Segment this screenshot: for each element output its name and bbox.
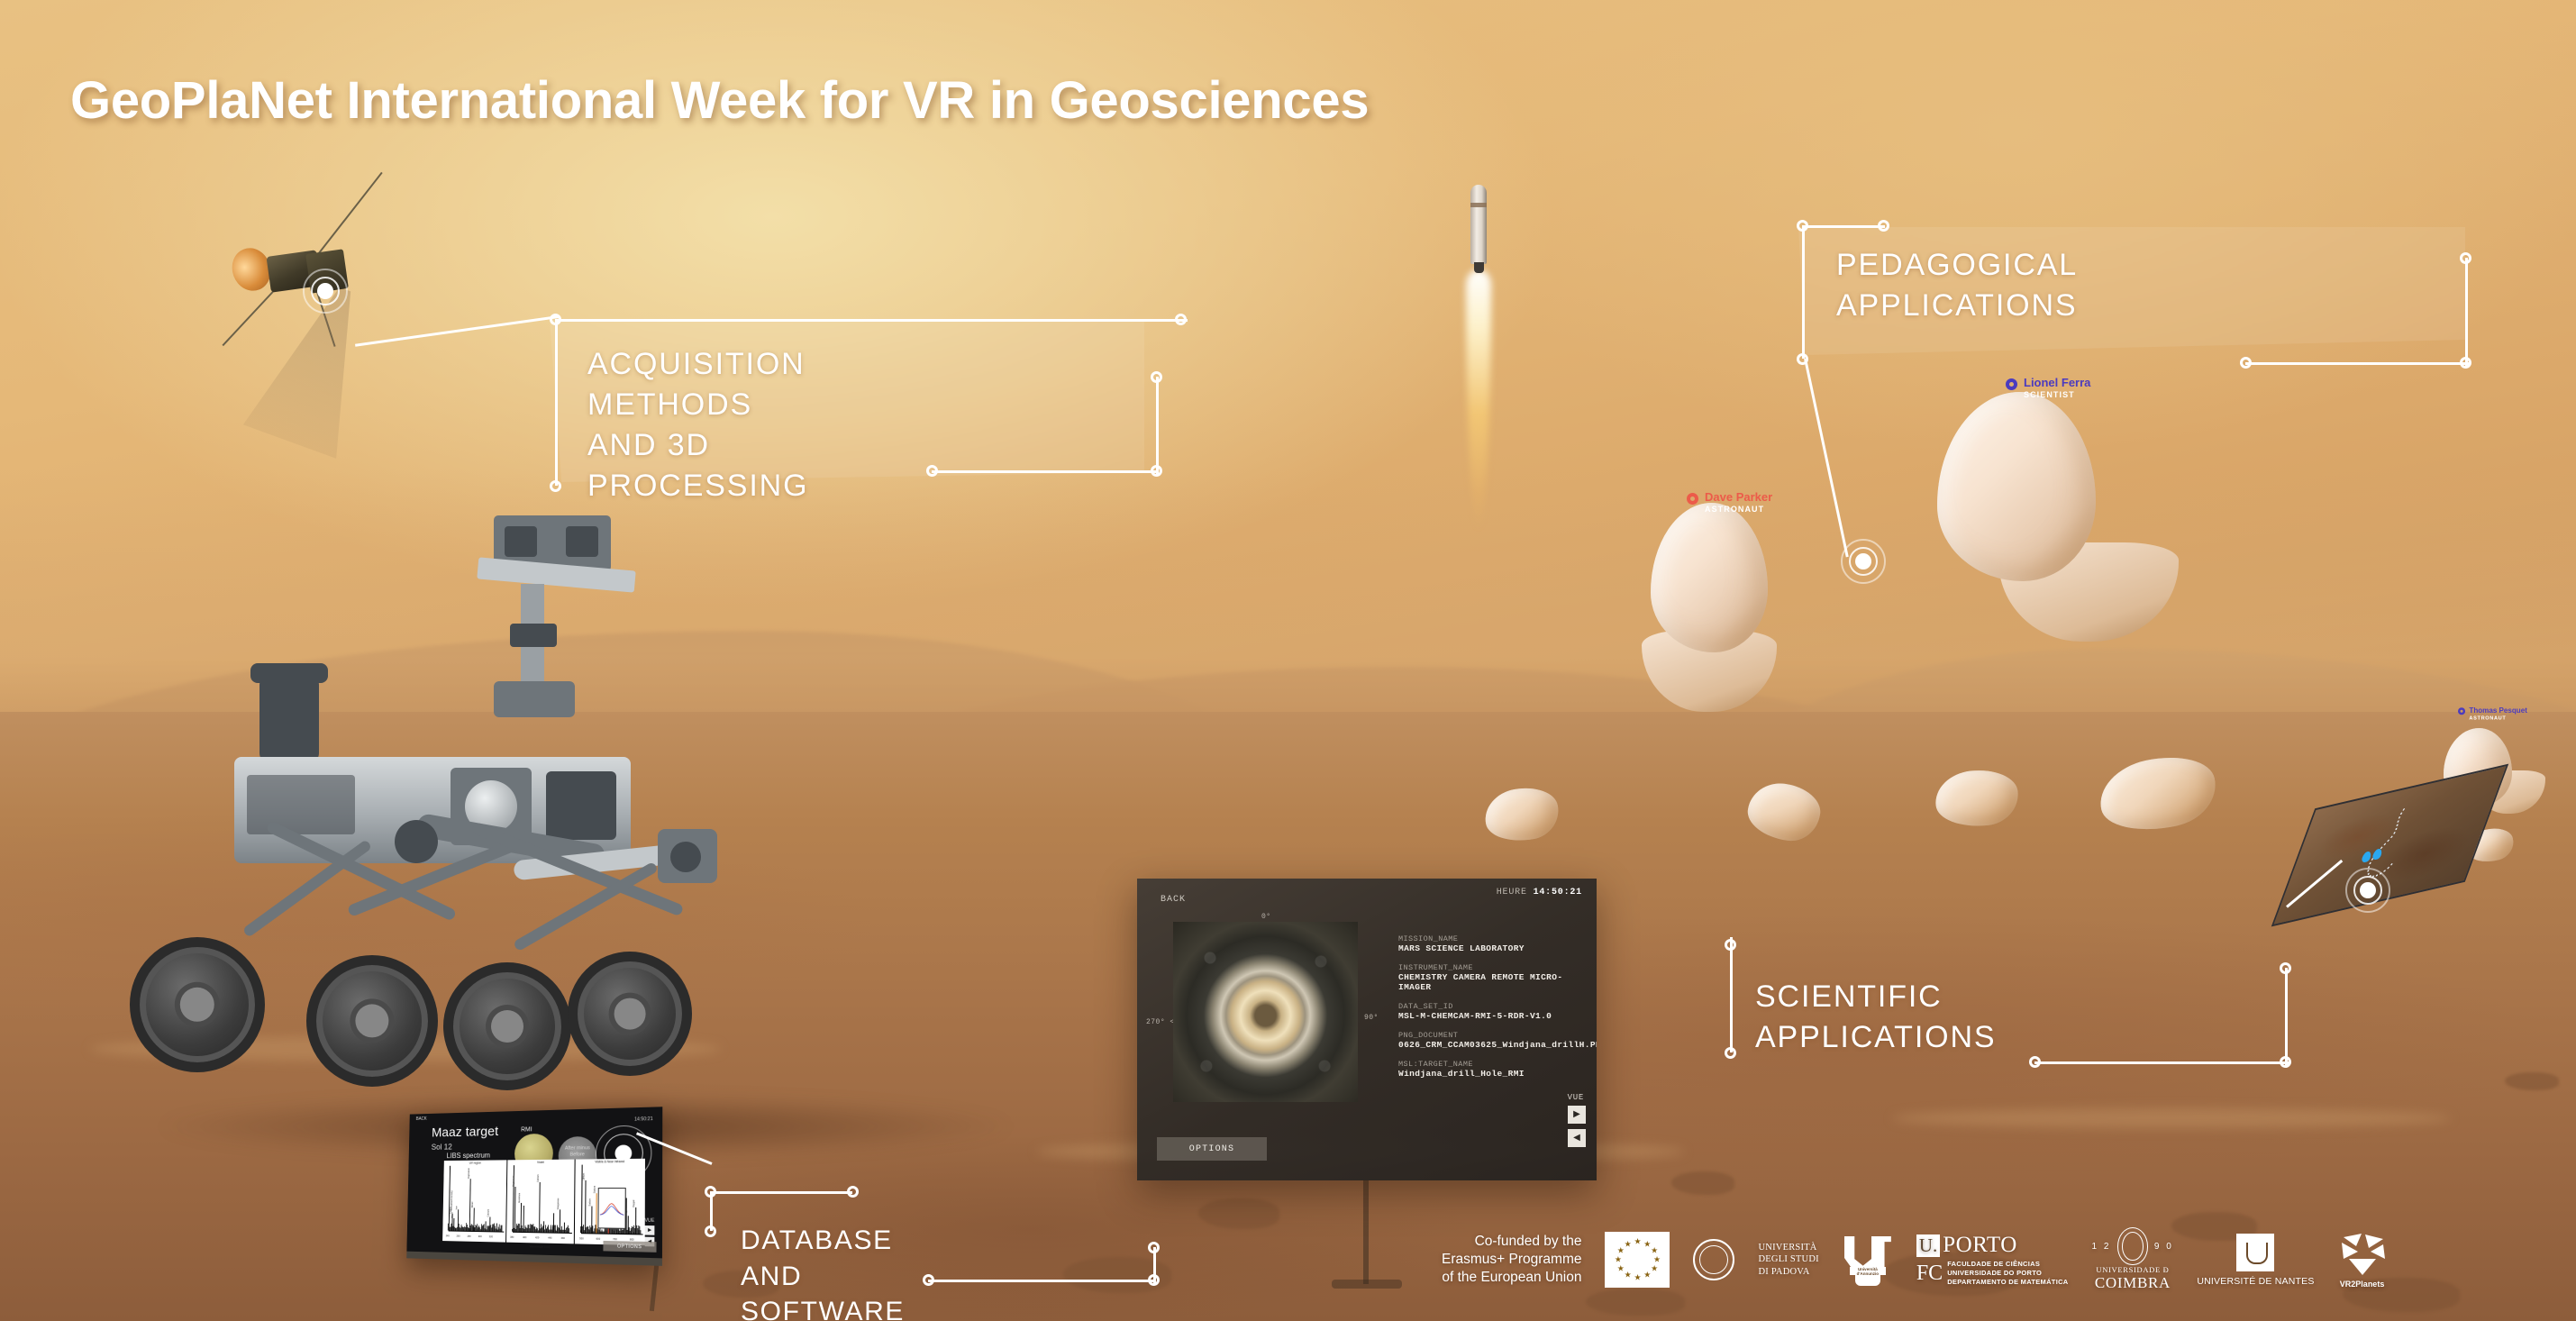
chart-pane-uv: UV region Normalized intensity CarbonSil… [442,1160,508,1242]
callout-line-bottom [928,1280,1155,1282]
callout-nub [2029,1056,2041,1068]
ground-rock [1198,1198,1279,1229]
clock-label: HEURE [1497,888,1527,897]
view-label: VUE [1568,1093,1584,1102]
rover-camera-lens [566,526,598,557]
chart-pane-violet: Violet MagnesiumAluminiumCalciumManganes… [506,1160,575,1244]
peak-label: Magnesium [468,1168,470,1179]
uda-foot [1855,1275,1880,1286]
callout-nub [1148,1274,1160,1286]
x-axis-label: Wavelength (nm) [530,1244,550,1249]
peak-label: Calcium [487,1209,490,1217]
eu-star-icon: ★ [1634,1273,1641,1281]
callout-nub [1725,939,1736,951]
callout-line-left [555,319,558,486]
rover-arm-shoulder [395,820,438,863]
libs-spectrum-panel[interactable]: BACK 14:50:21 Maaz target Sol 12 RMI Aft… [406,1107,662,1266]
peak-label: Silicon [471,1202,474,1208]
rmi-image[interactable] [1173,922,1358,1102]
spectrum-peak [496,1224,497,1232]
nametag-role: ASTRONAUT [1705,505,1772,514]
callout-nub [1725,1047,1736,1059]
rover-rtg [259,676,319,762]
fc-mark: FC [1916,1262,1943,1286]
view-next-button[interactable]: ▶ [1568,1106,1586,1124]
porto-u-mark: U. [1916,1234,1940,1257]
callout-nub [2280,962,2291,974]
peak-label: Manganese [557,1198,560,1210]
meta-key: DATA_SET_ID [1398,1002,1592,1011]
x-tick-label: 300 [478,1235,482,1238]
peak-label: Magnesium [512,1176,514,1187]
metadata-list: MISSION_NAME MARS SCIENCE LABORATORY INS… [1398,934,1592,1089]
nametag-dave-parker: Dave Parker ASTRONAUT [1687,491,1772,514]
callout-label: SCIENTIFIC APPLICATIONS [1755,977,1996,1058]
callout-line-bottom [2034,1061,2289,1064]
mission-data-panel[interactable]: BACK HEURE 14:50:21 0° 270° < 90° MISSIO… [1137,879,1597,1180]
eu-star-icon: ★ [1653,1256,1661,1264]
rover-wheel [568,952,692,1076]
rocket-body [1470,185,1487,264]
eu-star-icon: ★ [1617,1247,1625,1255]
hotspot-scientific[interactable] [2343,865,2393,916]
callout-line-right [2285,968,2288,1065]
uda-sub-label: Università d'Annunzio [1848,1267,1888,1276]
rocket-nozzle [1474,262,1484,273]
callout-line-bottom [932,470,1159,473]
callout-nub [2460,252,2471,264]
nametag-name: Lionel Ferra [2024,377,2090,390]
rmi-thumbnail-label: RMI [521,1126,532,1133]
pane-title: Visible & Near Infrared [575,1160,645,1164]
meta-value: MARS SCIENCE LABORATORY [1398,943,1592,953]
peak-label: Aluminium [519,1193,522,1203]
hotspot-acquisition[interactable] [300,266,350,316]
callout-label: PEDAGOGICAL APPLICATIONS [1836,245,2077,326]
spec-clock: 14:50:21 [634,1116,653,1123]
rover-wheel [306,955,438,1087]
spec-next-button[interactable]: ▶ [645,1225,655,1235]
spectrum-peak [486,1221,487,1231]
coimbra-word: COIMBRA [2092,1274,2174,1292]
x-tick-label: 280 [468,1235,471,1238]
vr2planets-label: VR2Planets [2338,1280,2387,1289]
clock-display: HEURE 14:50:21 [1497,888,1582,897]
padova-seal-icon [1693,1239,1734,1280]
ground-rock [2505,1072,2559,1090]
before-after-label: After minus Before [560,1145,596,1159]
meta-key: INSTRUMENT_NAME [1398,963,1592,972]
callout-line-top [712,1191,852,1194]
nametag-name: Thomas Pesquet [2469,706,2526,715]
rocket-model [1460,185,1496,293]
azimuth-270: 270° < [1146,1018,1175,1026]
eu-star-icon: ★ [1651,1247,1658,1255]
coimbra-year-left: 1 2 [2092,1242,2111,1252]
peak-label: Calcium [536,1175,539,1183]
callout-nub [1175,314,1187,325]
x-tick-label: 460 [561,1237,565,1240]
meta-key: MSL:TARGET_NAME [1398,1060,1592,1069]
rover-wheel [130,937,265,1072]
nametag-role: SCIENTIST [2024,390,2090,399]
chart-pane-vnir: Visible & Near Infrared LithiumSodiumSod… [574,1159,645,1245]
rocket-band [1470,203,1487,207]
callout-nub [926,465,938,477]
eu-star-icon: ★ [1643,1240,1651,1248]
spectrum-peak [553,1213,554,1232]
coimbra-universidade-label: UNIVERSIDADE Ð [2092,1265,2174,1274]
callout-line-bottom [2245,362,2469,365]
x-tick-label: 400 [523,1236,526,1239]
fc-block: FC FACULDADE DE CIÊNCIAS UNIVERSIDADE DO… [1916,1260,2069,1286]
eu-star-icon: ★ [1625,1240,1632,1248]
uda-mark [1844,1236,1891,1267]
hotspot-core-dot [1855,553,1871,569]
main-panel-foot [1332,1280,1402,1289]
callout-nub [550,480,561,492]
pane-title: Violet [508,1161,575,1165]
callout-label: DATABASE AND SOFTWARE [741,1223,905,1321]
callout-nub [847,1186,859,1198]
callout-nub [705,1225,716,1237]
azimuth-0: 0° [1261,913,1271,921]
rover-electronics [546,771,616,840]
nametag-name: Dave Parker [1705,491,1772,505]
vr2planets-logo: VR2Planets [2338,1232,2387,1289]
callout-nub [1878,220,1889,232]
nametag-dot [2006,378,2017,390]
back-button[interactable]: BACK [1161,895,1186,905]
page-title: GeoPlaNet International Week for VR in G… [70,70,1369,131]
spectrum-peak [635,1207,636,1234]
coimbra-crest-row: 1 2 9 0 [2092,1227,2174,1265]
hotspot-core-dot [2360,882,2376,898]
pane-title: UV region [444,1161,507,1165]
eu-star-icon: ★ [1617,1264,1625,1272]
rover-mast-base [494,681,575,717]
coimbra-year-right: 9 0 [2154,1242,2173,1252]
spectrum-noise [640,1230,641,1234]
azimuth-90: 90° [1364,1014,1379,1022]
porto-logo: U. PORTO FC FACULDADE DE CIÊNCIAS UNIVER… [1916,1233,2069,1286]
nametag-dot [2458,707,2465,715]
spectrum-peak [543,1221,544,1233]
callout-label: ACQUISITION METHODS AND 3D PROCESSING [587,344,808,506]
callout-line-left [1730,937,1733,1052]
callout-line-top [1804,225,1885,228]
spectrum-peak [591,1207,592,1233]
spec-options-button[interactable]: OPTIONS [603,1241,656,1253]
spec-back-button[interactable]: BACK [416,1116,427,1122]
peak-label: Sodium [594,1185,596,1192]
eu-star-icon: ★ [1651,1264,1658,1272]
padova-logo-label: UNIVERSITÀ DEGLI STUDI DI PADOVA [1758,1242,1818,1277]
eu-star-icon: ★ [1643,1271,1651,1280]
nantes-mark-icon [2236,1234,2274,1271]
meta-key: PNG_DOCUMENT [1398,1031,1592,1040]
options-button[interactable]: OPTIONS [1157,1137,1267,1161]
erasmus-funding-text: Co-funded by the Erasmus+ Programme of t… [1442,1233,1581,1286]
x-tick-label: 380 [510,1236,514,1239]
peak-label: Iron [455,1207,458,1210]
ground-rock [1671,1171,1734,1195]
target-title: Maaz target [432,1124,498,1140]
x-tick-label: 240 [446,1234,450,1237]
meta-value: 0626_CRM_CCAM03625_Windjana_drillH.PNG [1398,1040,1592,1050]
libs-chart: UV region Normalized intensity CarbonSil… [442,1159,645,1245]
callout-line-top [557,319,1188,322]
meta-value: MSL-M-CHEMCAM-RMI-5-RDR-V1.0 [1398,1011,1592,1021]
rover-rtg-cap [250,663,328,683]
nametag-thomas-pesquet: Thomas Pesquet ASTRONAUT [2458,706,2527,720]
x-tick-label: 500 [579,1237,583,1240]
spectrum-noise [569,1228,569,1233]
callout-nub [2240,357,2252,369]
callout-nub [705,1186,716,1198]
callout-nub [2280,1056,2291,1068]
callout-nub [1151,465,1162,477]
rover-mast-joint [510,624,557,647]
rover-panel [247,775,355,834]
spectrum-noise [502,1225,503,1231]
callout-nub [1797,220,1808,232]
meta-value: CHEMISTRY CAMERA REMOTE MICRO-IMAGER [1398,972,1592,992]
clock-value: 14:50:21 [1534,888,1582,897]
nantes-logo: UNIVERSITÉ DE NANTES [2197,1234,2314,1287]
hotspot-core-dot [317,283,333,299]
chart-title: LIBS spectrum [447,1152,491,1160]
rover-camera-lens [505,526,537,557]
eu-star-icon: ★ [1615,1256,1622,1264]
rover-wheel [443,962,571,1090]
eu-star-icon: ★ [1634,1238,1641,1246]
rover-drill [670,842,701,872]
peak-label: Sodium [589,1199,592,1207]
coimbra-seal-icon [2117,1227,2148,1265]
peak-label: Lithium [582,1173,585,1180]
callout-line-right [2465,258,2468,366]
callout-nub [1151,371,1162,383]
nametag-dot [1687,493,1698,505]
uda-logo-icon: Università d'Annunzio [1843,1233,1893,1287]
spectrum-peak [628,1216,629,1234]
callout-line-left [1802,225,1805,359]
x-tick-label: 600 [596,1238,600,1241]
porto-sub-label: FACULDADE DE CIÊNCIAS UNIVERSIDADE DO PO… [1947,1260,2068,1286]
inset-curve [599,1189,625,1228]
x-tick-label: 420 [535,1236,539,1239]
vr2planets-mark-icon [2338,1232,2387,1277]
x-tick-label: 260 [457,1235,460,1238]
callout-nub [1148,1242,1160,1253]
x-tick-label: 440 [548,1237,551,1240]
sponsor-logo-bar: Co-funded by the Erasmus+ Programme of t… [1424,1198,2576,1321]
porto-wordmark: U. PORTO [1916,1233,2069,1258]
x-tick-label: 320 [489,1235,493,1238]
callout-line-right [1156,377,1159,474]
nametag-lionel-ferra: Lionel Ferra SCIENTIST [2006,377,2090,399]
main-panel-stand [1363,1180,1369,1284]
meta-key: MISSION_NAME [1398,934,1592,943]
coimbra-logo: 1 2 9 0 UNIVERSIDADE Ð COIMBRA [2092,1227,2174,1292]
chart-inset [598,1188,627,1229]
eu-flag-icon: ★★★★★★★★★★★★ [1605,1232,1670,1288]
nametag-role: ASTRONAUT [2469,715,2526,720]
meta-value: Windjana_drill_Hole_RMI [1398,1069,1592,1079]
peak-label: Oxygen [633,1199,635,1207]
callout-nub [2460,357,2471,369]
spec-view-label: VUE [644,1218,654,1224]
spectrum-peak [564,1222,565,1232]
view-prev-button[interactable]: ◀ [1568,1129,1586,1147]
mars-rover [207,505,982,1153]
eu-star-icon: ★ [1625,1271,1632,1280]
sol-label: Sol 12 [432,1143,452,1152]
dune-streak [1892,1108,2451,1128]
callout-nub [923,1274,934,1286]
nantes-label: UNIVERSITÉ DE NANTES [2197,1276,2314,1287]
porto-word: PORTO [1943,1233,2017,1258]
peak-label: Silicon [451,1212,454,1218]
